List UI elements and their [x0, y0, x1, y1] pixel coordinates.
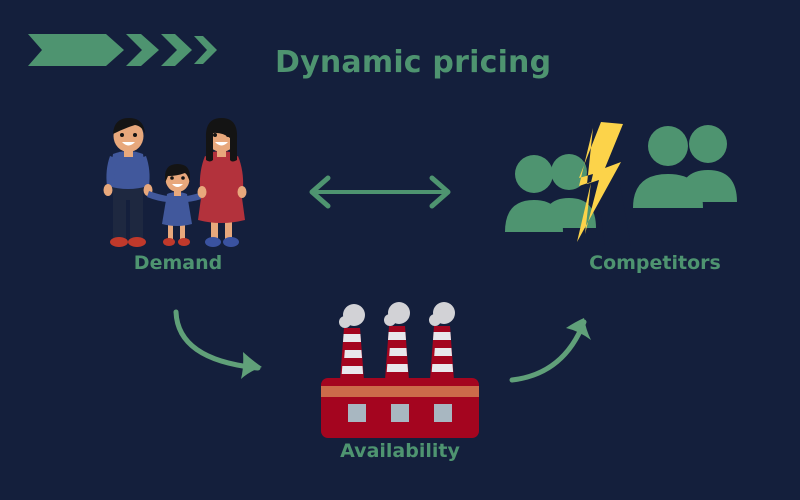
father-figure: [104, 118, 153, 247]
arrow-demand-competitors: [300, 172, 460, 212]
chimney-2: [385, 326, 409, 380]
arrow-availability-competitors: [508, 302, 623, 394]
curved-arrow-down-right-svg: [165, 298, 290, 390]
people-group-lightning-icon: [505, 118, 737, 246]
family-group-icon: [96, 112, 260, 250]
page-title: Dynamic pricing: [275, 45, 575, 80]
dynamic-pricing-infographic: Dynamic pricing: [0, 0, 800, 500]
smoke-puffs: [339, 302, 455, 328]
node-label-availability: Availability: [310, 440, 490, 462]
competitors-group-svg: [505, 118, 737, 246]
chimney-1: [340, 328, 364, 380]
mother-figure: [198, 118, 247, 247]
curved-arrow-up-right-svg: [508, 302, 623, 394]
chevron-icon-3: [161, 34, 192, 66]
factory-icon: [318, 300, 482, 440]
chevron-icon-2: [126, 34, 159, 66]
double-arrow-svg: [300, 172, 460, 212]
family-group-svg: [96, 112, 260, 250]
node-label-demand: Demand: [98, 252, 258, 274]
chevron-arrow-bar-decoration: [28, 30, 218, 70]
factory-svg: [318, 300, 482, 440]
factory-windows: [348, 404, 452, 422]
factory-band: [321, 386, 479, 397]
arrow-demand-availability: [165, 298, 290, 390]
node-label-competitors: Competitors: [565, 252, 745, 274]
chimney-3: [430, 326, 454, 380]
arrowhead: [241, 352, 262, 379]
child-figure: [147, 164, 207, 246]
chevron-icon-4: [194, 36, 217, 64]
chevron-arrow-bar-svg: [28, 30, 218, 70]
chevron-large-icon: [28, 34, 124, 66]
